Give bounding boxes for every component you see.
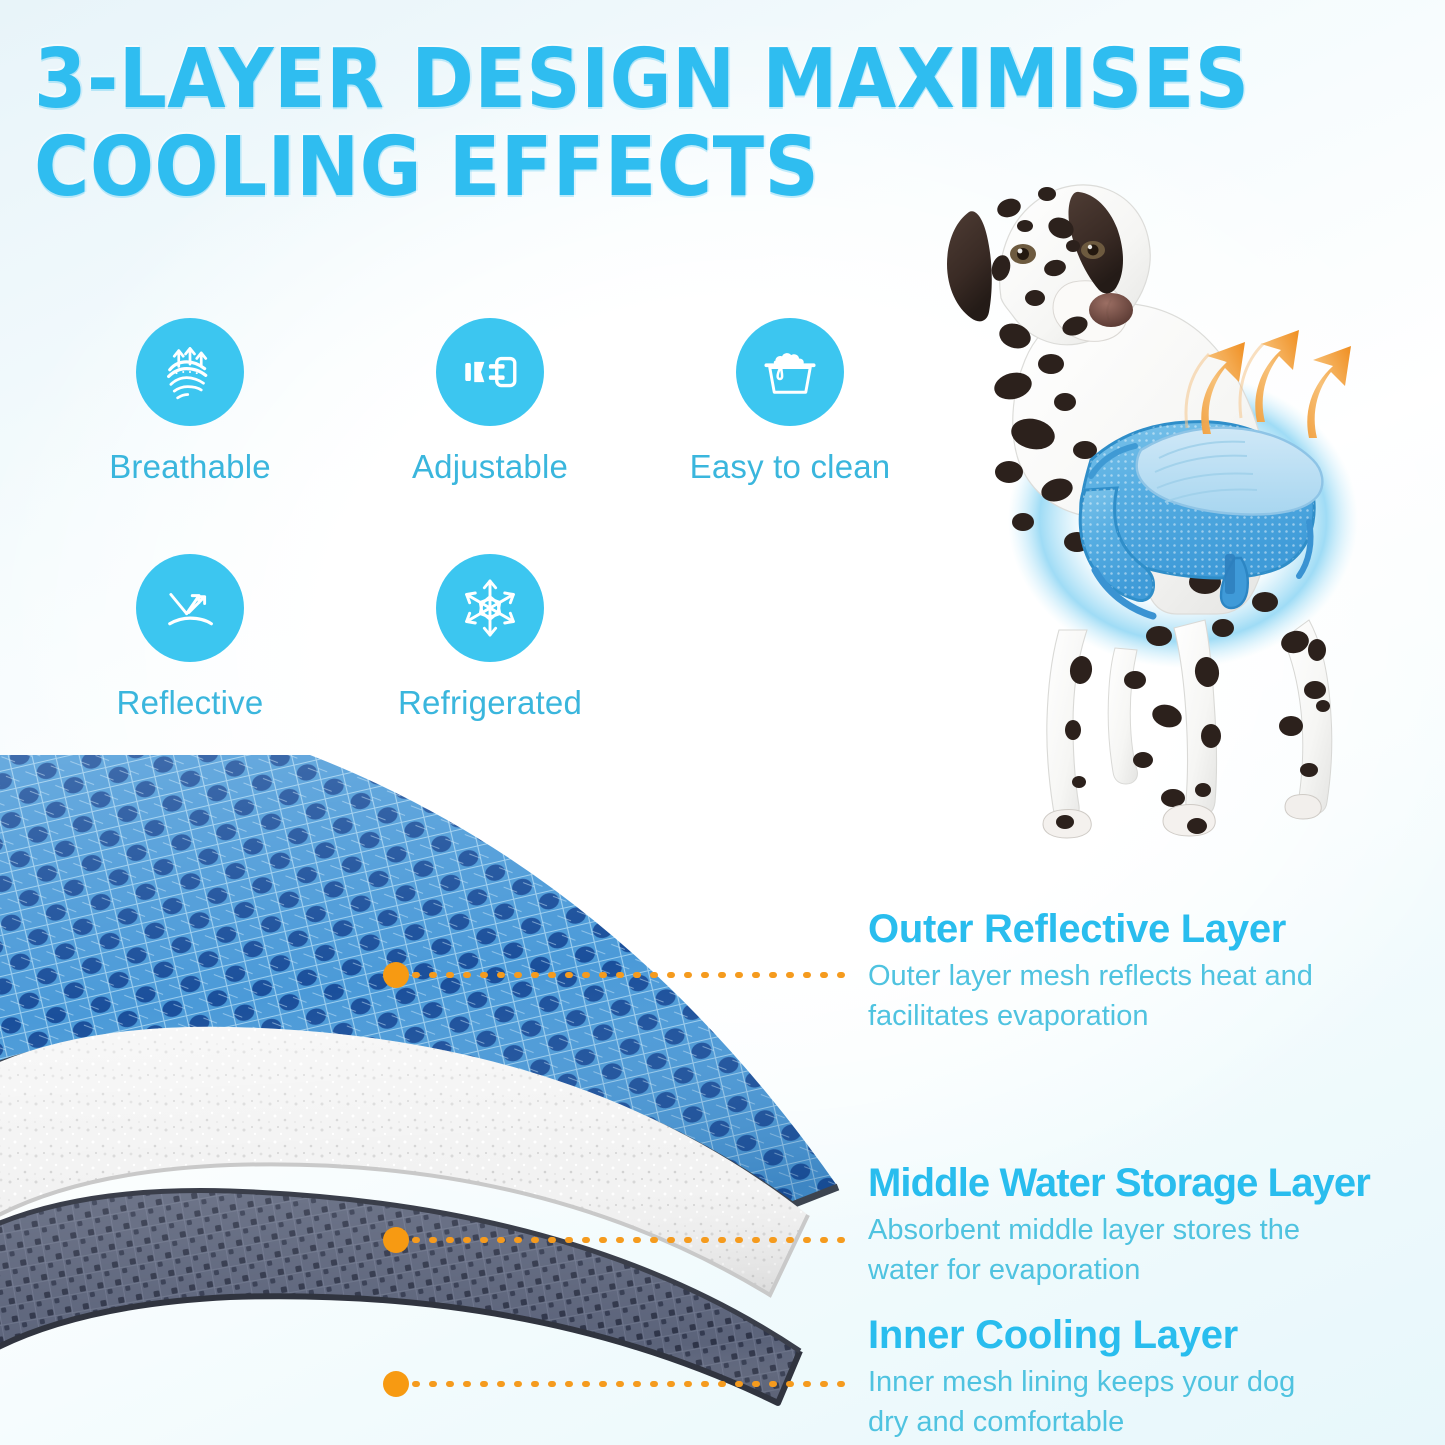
feature-easy-to-clean: Easy to clean [640, 318, 940, 486]
snowflake-icon [436, 554, 544, 662]
feature-label: Breathable [109, 448, 271, 486]
dog-ear-left [947, 211, 992, 321]
feature-row-2: Reflective [40, 554, 940, 722]
callout-description: Absorbent middle layer stores the water … [868, 1210, 1338, 1290]
feature-adjustable: Adjustable [340, 318, 640, 486]
three-layer-fabric-stack [0, 735, 880, 1445]
callout-description: Inner mesh lining keeps your dog dry and… [868, 1362, 1338, 1442]
callout-description: Outer layer mesh reflects heat and facil… [868, 956, 1338, 1036]
product-photo-dog-in-cooling-vest [905, 150, 1445, 890]
feature-label: Reflective [117, 684, 264, 722]
feature-label: Adjustable [412, 448, 568, 486]
feature-list: Breathable Adjustable [40, 318, 940, 722]
feature-label: Refrigerated [398, 684, 582, 722]
breathable-fabric-airflow-icon [136, 318, 244, 426]
callout-title: Inner Cooling Layer [868, 1312, 1338, 1358]
callout-outer-layer: Outer Reflective Layer Outer layer mesh … [868, 906, 1338, 1036]
dog-nose [1089, 293, 1133, 327]
reflected-rays-icon [136, 554, 244, 662]
callout-title: Outer Reflective Layer [868, 906, 1338, 952]
title-line-1: 3-LAYER DESIGN MAXIMISES [34, 38, 1074, 122]
callout-middle-layer: Middle Water Storage Layer Absorbent mid… [868, 1160, 1370, 1290]
callout-inner-layer: Inner Cooling Layer Inner mesh lining ke… [868, 1312, 1338, 1442]
infographic-canvas: 3-LAYER DESIGN MAXIMISES COOLING EFFECTS [0, 0, 1445, 1445]
feature-label: Easy to clean [690, 448, 891, 486]
title-line-2: COOLING EFFECTS [34, 126, 1074, 210]
buckle-clip-icon [436, 318, 544, 426]
feature-reflective: Reflective [40, 554, 340, 722]
feature-refrigerated: Refrigerated [340, 554, 640, 722]
wash-basin-suds-icon [736, 318, 844, 426]
feature-row-2-spacer [640, 554, 940, 722]
feature-row-1: Breathable Adjustable [40, 318, 940, 486]
feature-breathable: Breathable [40, 318, 340, 486]
callout-title: Middle Water Storage Layer [868, 1160, 1370, 1206]
page-title: 3-LAYER DESIGN MAXIMISES COOLING EFFECTS [34, 38, 1164, 210]
